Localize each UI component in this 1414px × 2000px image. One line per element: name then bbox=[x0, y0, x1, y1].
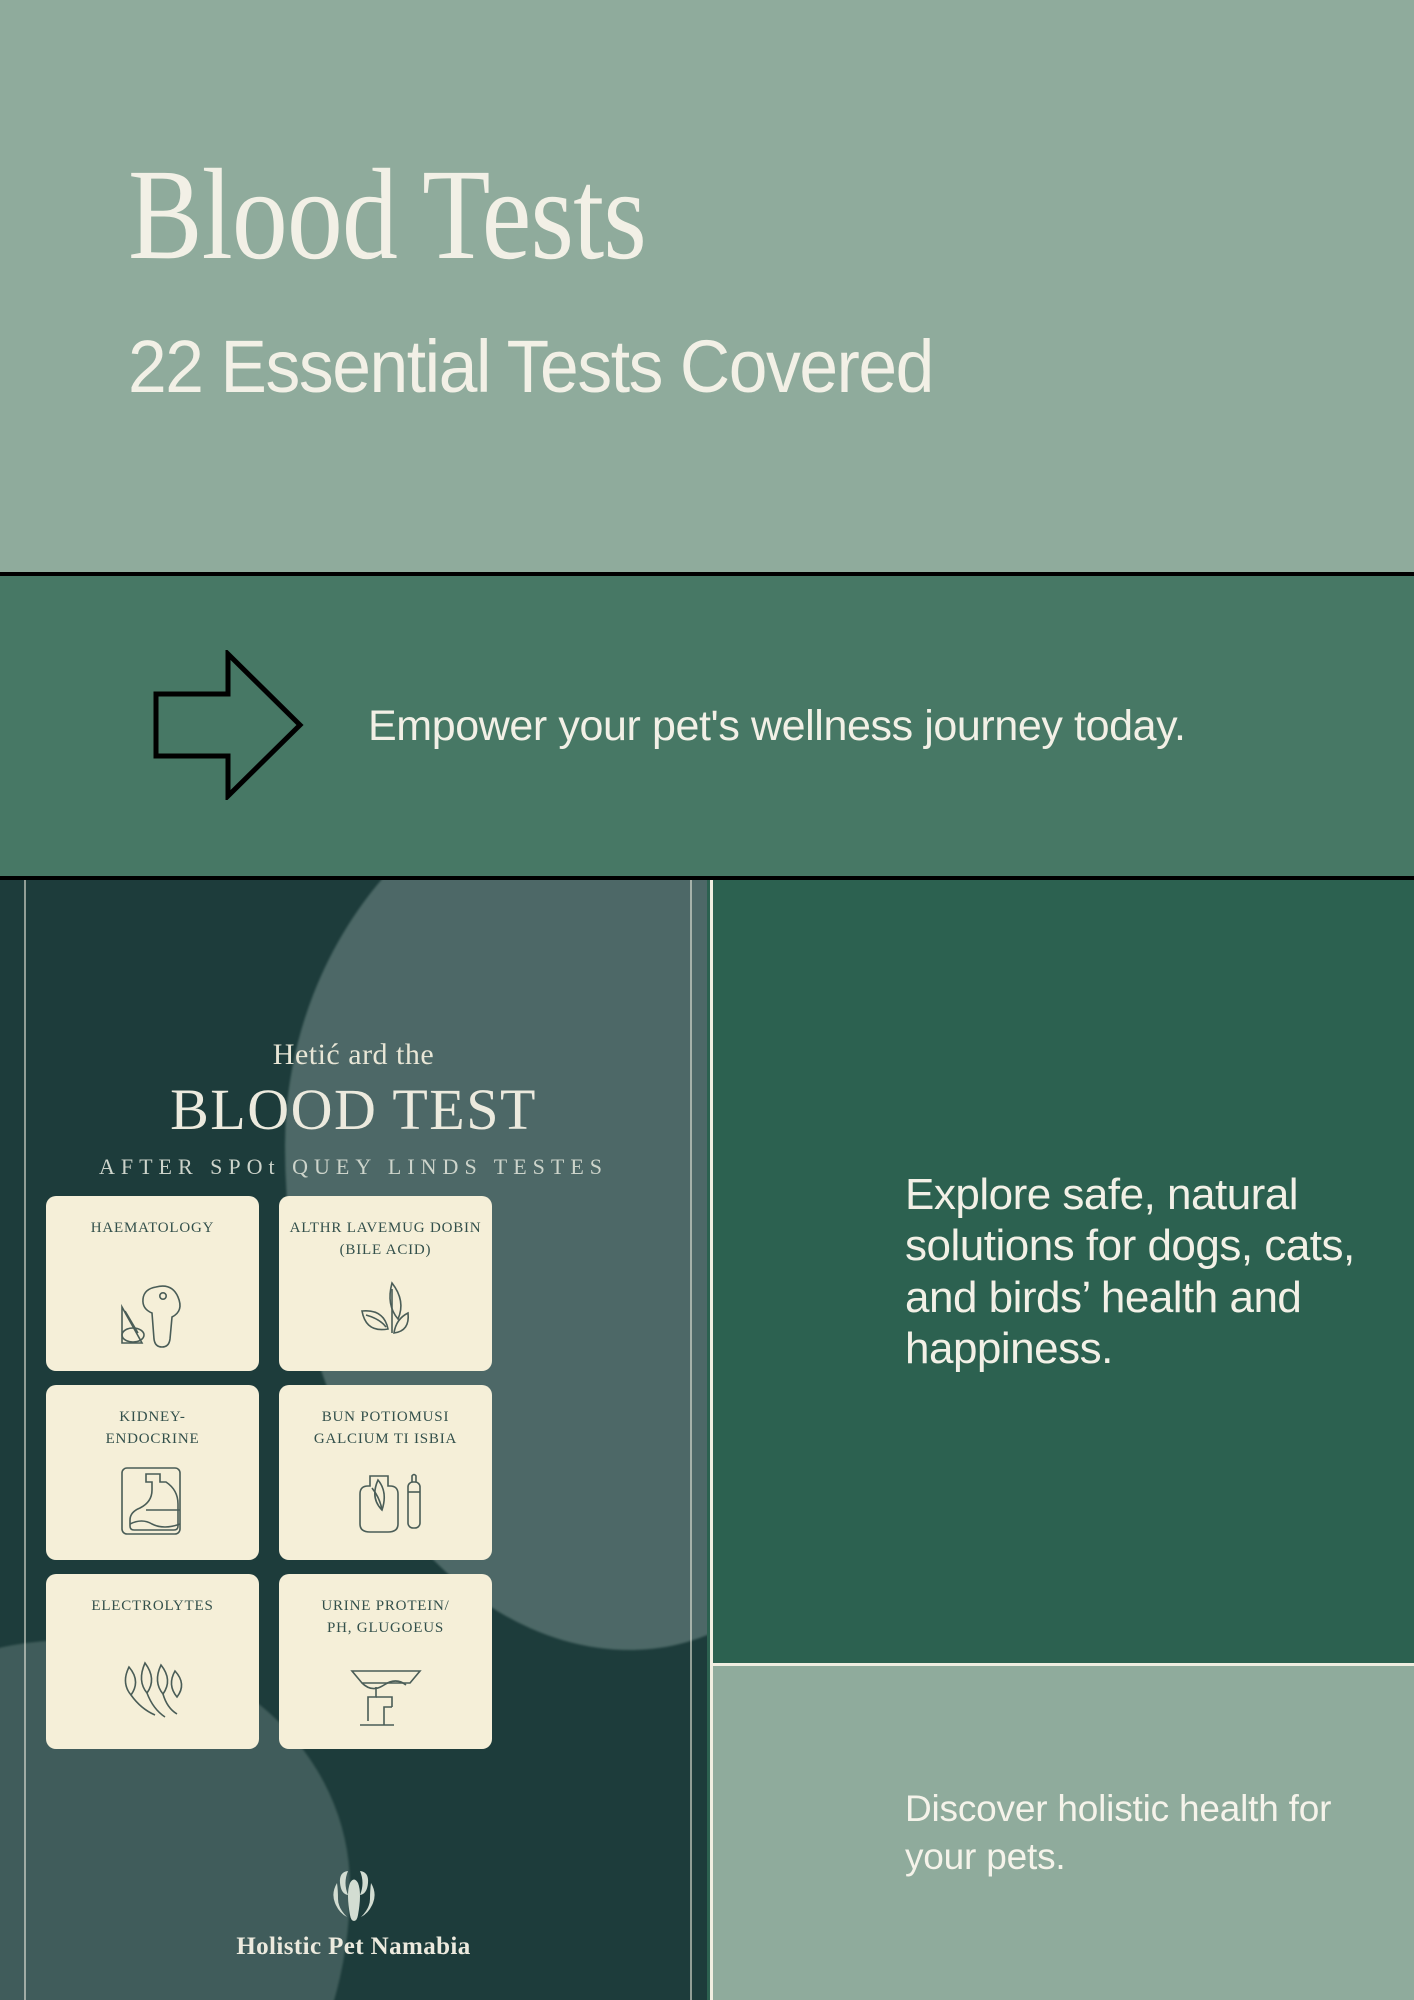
footer-text: Discover holistic health for your pets. bbox=[905, 1666, 1365, 2000]
table-row: KIDNEY-ENDOCRINE bbox=[46, 1385, 259, 1560]
lab-tray-icon bbox=[279, 1643, 492, 1727]
hands-leaf-logo-icon bbox=[323, 1865, 385, 1927]
poster-image: Hetić ard the BLOOD TEST AFTER SPOt QUEY… bbox=[0, 880, 707, 2000]
right-column: Explore safe, natural solutions for dogs… bbox=[710, 880, 1414, 2000]
test-card-label: BUN POTIOMUSIGALCIUM TI ISBIA bbox=[287, 1407, 484, 1451]
header-banner: Blood Tests 22 Essential Tests Covered bbox=[0, 0, 1414, 572]
page-subtitle: 22 Essential Tests Covered bbox=[128, 330, 933, 404]
herb-cluster-icon bbox=[46, 1643, 259, 1727]
arrow-right-icon bbox=[152, 650, 304, 800]
test-card-label: ELECTROLYTES bbox=[54, 1596, 251, 1618]
test-card-label: KIDNEY-ENDOCRINE bbox=[54, 1407, 251, 1451]
poster-title: BLOOD TEST bbox=[0, 1076, 707, 1143]
test-card-label: URINE PROTEIN/PH, GLUGOEUS bbox=[287, 1596, 484, 1640]
table-row: ELECTROLYTES bbox=[46, 1574, 259, 1749]
bottle-container-icon bbox=[46, 1454, 259, 1538]
test-card-label: ALTHR LAVEMUG DOBIN(BILE ACID) bbox=[287, 1218, 484, 1262]
brand-name: Holistic Pet Namabia bbox=[0, 1933, 707, 1961]
footer-panel: Discover holistic health for your pets. bbox=[710, 1663, 1414, 2000]
table-row: ALTHR LAVEMUG DOBIN(BILE ACID) bbox=[279, 1196, 492, 1371]
test-card-label: HAEMATOLOGY bbox=[54, 1218, 251, 1240]
description-block: Explore safe, natural solutions for dogs… bbox=[905, 880, 1375, 1663]
poster-eyebrow: Hetić ard the bbox=[0, 1038, 707, 1072]
content-area: Hetić ard the BLOOD TEST AFTER SPOt QUEY… bbox=[0, 880, 1414, 2000]
brand-logo: Holistic Pet Namabia bbox=[0, 1865, 707, 1961]
callout-band: Empower your pet's wellness journey toda… bbox=[0, 576, 1414, 876]
bird-profile-icon bbox=[46, 1265, 259, 1349]
leaf-sprig-icon bbox=[279, 1265, 492, 1349]
callout-text: Empower your pet's wellness journey toda… bbox=[368, 576, 1186, 876]
poster-subtitle: AFTER SPOt QUEY LINDS TESTES bbox=[0, 1154, 707, 1180]
table-row: HAEMATOLOGY bbox=[46, 1196, 259, 1371]
vertical-divider bbox=[710, 880, 713, 1663]
table-row: URINE PROTEIN/PH, GLUGOEUS bbox=[279, 1574, 492, 1749]
jar-and-dropper-icon bbox=[279, 1454, 492, 1538]
test-card-grid: HAEMATOLOGY ALTHR LAVEMUG DOBIN(BILE ACI… bbox=[46, 1196, 666, 1749]
page-title: Blood Tests bbox=[128, 150, 646, 280]
description-text: Explore safe, natural solutions for dogs… bbox=[905, 1169, 1375, 1373]
table-row: BUN POTIOMUSIGALCIUM TI ISBIA bbox=[279, 1385, 492, 1560]
